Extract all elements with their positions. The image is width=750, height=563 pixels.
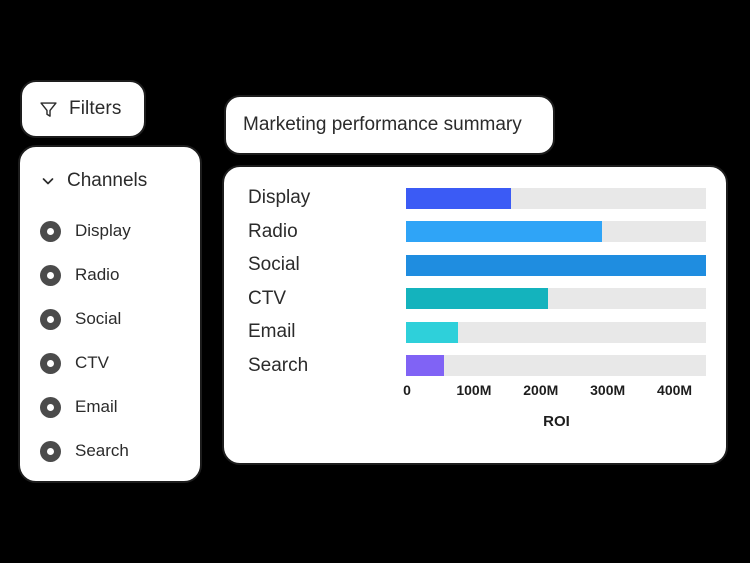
bar-category-label: CTV (248, 288, 406, 310)
bar-fill[interactable] (406, 221, 602, 242)
page-title: Marketing performance summary (243, 114, 522, 136)
bar-fill[interactable] (406, 255, 706, 276)
axis-tick-label: 0 (403, 382, 411, 398)
channels-section-title: Channels (67, 170, 147, 192)
sidebar-item-social[interactable]: Social (20, 297, 200, 341)
chevron-down-icon (40, 173, 56, 189)
bar-row: Social (248, 254, 706, 276)
x-axis-ticks: 0100M200M300M400M (407, 382, 706, 402)
radio-icon-ctv[interactable] (40, 353, 61, 374)
bar-track (406, 188, 706, 209)
bar-fill[interactable] (406, 355, 444, 376)
filters-button[interactable]: Filters (20, 80, 146, 138)
axis-tick-label: 100M (456, 382, 491, 398)
bar-fill[interactable] (406, 322, 458, 343)
sidebar-item-radio[interactable]: Radio (20, 253, 200, 297)
sidebar-item-label: Email (75, 397, 118, 417)
bar-row: Search (248, 355, 706, 377)
sidebar-item-email[interactable]: Email (20, 385, 200, 429)
bar-track (406, 288, 706, 309)
bar-category-label: Social (248, 254, 406, 276)
radio-icon-social[interactable] (40, 309, 61, 330)
bar-category-label: Search (248, 355, 406, 377)
sidebar-item-label: Radio (75, 265, 119, 285)
axis-tick-label: 300M (590, 382, 625, 398)
sidebar-item-display[interactable]: Display (20, 209, 200, 253)
chart-card: DisplayRadioSocialCTVEmailSearch 0100M20… (222, 165, 728, 465)
channels-filter-panel: Channels Display Radio Social CTV Email … (18, 145, 202, 483)
funnel-icon (39, 100, 58, 119)
bar-row: Radio (248, 221, 706, 243)
bar-fill[interactable] (406, 188, 511, 209)
bar-row: CTV (248, 288, 706, 310)
sidebar-item-ctv[interactable]: CTV (20, 341, 200, 385)
radio-icon-search[interactable] (40, 441, 61, 462)
sidebar-item-search[interactable]: Search (20, 429, 200, 473)
sidebar-item-label: Display (75, 221, 131, 241)
bar-track (406, 355, 706, 376)
sidebar-item-label: CTV (75, 353, 109, 373)
bar-track (406, 322, 706, 343)
sidebar-item-label: Social (75, 309, 121, 329)
axis-tick-label: 200M (523, 382, 558, 398)
bar-row: Email (248, 321, 706, 343)
bar-category-label: Display (248, 187, 406, 209)
filters-button-label: Filters (69, 98, 121, 120)
bar-track (406, 255, 706, 276)
bar-track (406, 221, 706, 242)
sidebar-item-label: Search (75, 441, 129, 461)
radio-icon-display[interactable] (40, 221, 61, 242)
radio-icon-radio[interactable] (40, 265, 61, 286)
channel-list: Display Radio Social CTV Email Search (20, 209, 200, 473)
bar-category-label: Radio (248, 221, 406, 243)
chart-title-card: Marketing performance summary (224, 95, 555, 155)
x-axis-label: ROI (407, 413, 706, 430)
axis-tick-label: 400M (657, 382, 692, 398)
bar-category-label: Email (248, 321, 406, 343)
bar-row: Display (248, 187, 706, 209)
channels-section-header[interactable]: Channels (20, 165, 200, 197)
bar-fill[interactable] (406, 288, 548, 309)
radio-icon-email[interactable] (40, 397, 61, 418)
